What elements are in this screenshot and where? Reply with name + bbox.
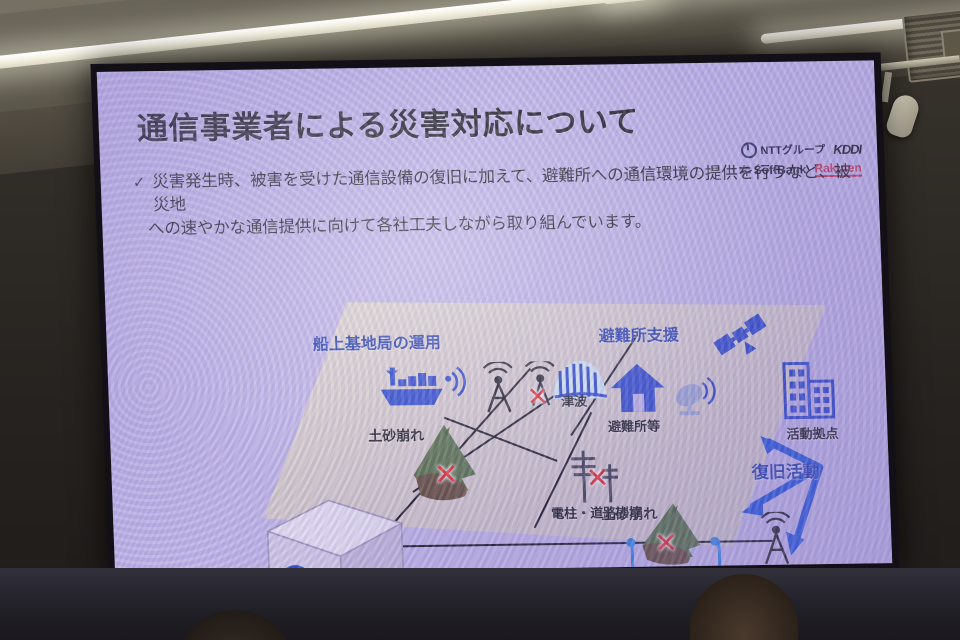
- check-icon: ✓: [132, 171, 145, 193]
- damage-marker-icon: ✕: [526, 383, 549, 409]
- data-center-cube-icon: [258, 493, 413, 574]
- foreground-desk: [0, 568, 960, 640]
- air-vent-icon: [902, 1, 960, 83]
- bypass-node: [626, 538, 635, 547]
- screenshot-root: 通信事業者による災害対応について NTTグループ KDDI SoftBank: [0, 0, 960, 640]
- bullet-block: ✓ 災害発生時、被害を受けた通信設備の復旧に加えて、避難所への通信環境の提供を行…: [132, 161, 862, 242]
- logo-label: NTTグループ: [760, 141, 825, 158]
- logo-ntt-group: NTTグループ: [741, 141, 825, 158]
- label-restoration-activity: 復旧活動: [751, 457, 820, 483]
- bypass-node: [710, 537, 719, 546]
- damage-marker-icon: ✕: [433, 461, 459, 491]
- page-title: 通信事業者による災害対応について: [136, 96, 640, 148]
- damage-marker-icon: ✕: [585, 464, 609, 492]
- buildings-icon: [780, 361, 838, 420]
- shelter-house-icon: [608, 361, 668, 414]
- disaster-response-diagram: 船上基地局の運用: [104, 260, 892, 574]
- ship-icon: [376, 364, 470, 413]
- label-shelter: 避難所等: [608, 416, 661, 436]
- projection-screen: 通信事業者による災害対応について NTTグループ KDDI SoftBank: [90, 52, 899, 583]
- logo-kddi: KDDI: [833, 141, 861, 156]
- ntt-mark-icon: [741, 142, 758, 158]
- logo-label: KDDI: [833, 141, 861, 156]
- bullet-text: 災害発生時、被害を受けた通信設備の復旧に加えて、避難所への通信環境の提供を行うな…: [152, 161, 862, 242]
- label-shelter-support: 避難所支援: [598, 321, 679, 346]
- satellite-icon: [710, 308, 774, 367]
- label-ship-base-station: 船上基地局の運用: [312, 329, 441, 355]
- satellite-dish-icon: [672, 373, 720, 418]
- bullet-line-2: への速やかな通信提供に向けて各社工夫しながら取り組んでいます。: [148, 207, 862, 241]
- label-tsunami: 津波: [561, 391, 588, 410]
- antenna-tower-icon: [476, 362, 522, 415]
- screen-surface: 通信事業者による災害対応について NTTグループ KDDI SoftBank: [97, 60, 893, 574]
- antenna-tower-icon: [753, 511, 799, 566]
- slide: 通信事業者による災害対応について NTTグループ KDDI SoftBank: [97, 60, 893, 574]
- bullet-line-1: 災害発生時、被害を受けた通信設備の復旧に加えて、避難所への通信環境の提供を行うな…: [152, 163, 851, 215]
- network-link: [369, 542, 659, 548]
